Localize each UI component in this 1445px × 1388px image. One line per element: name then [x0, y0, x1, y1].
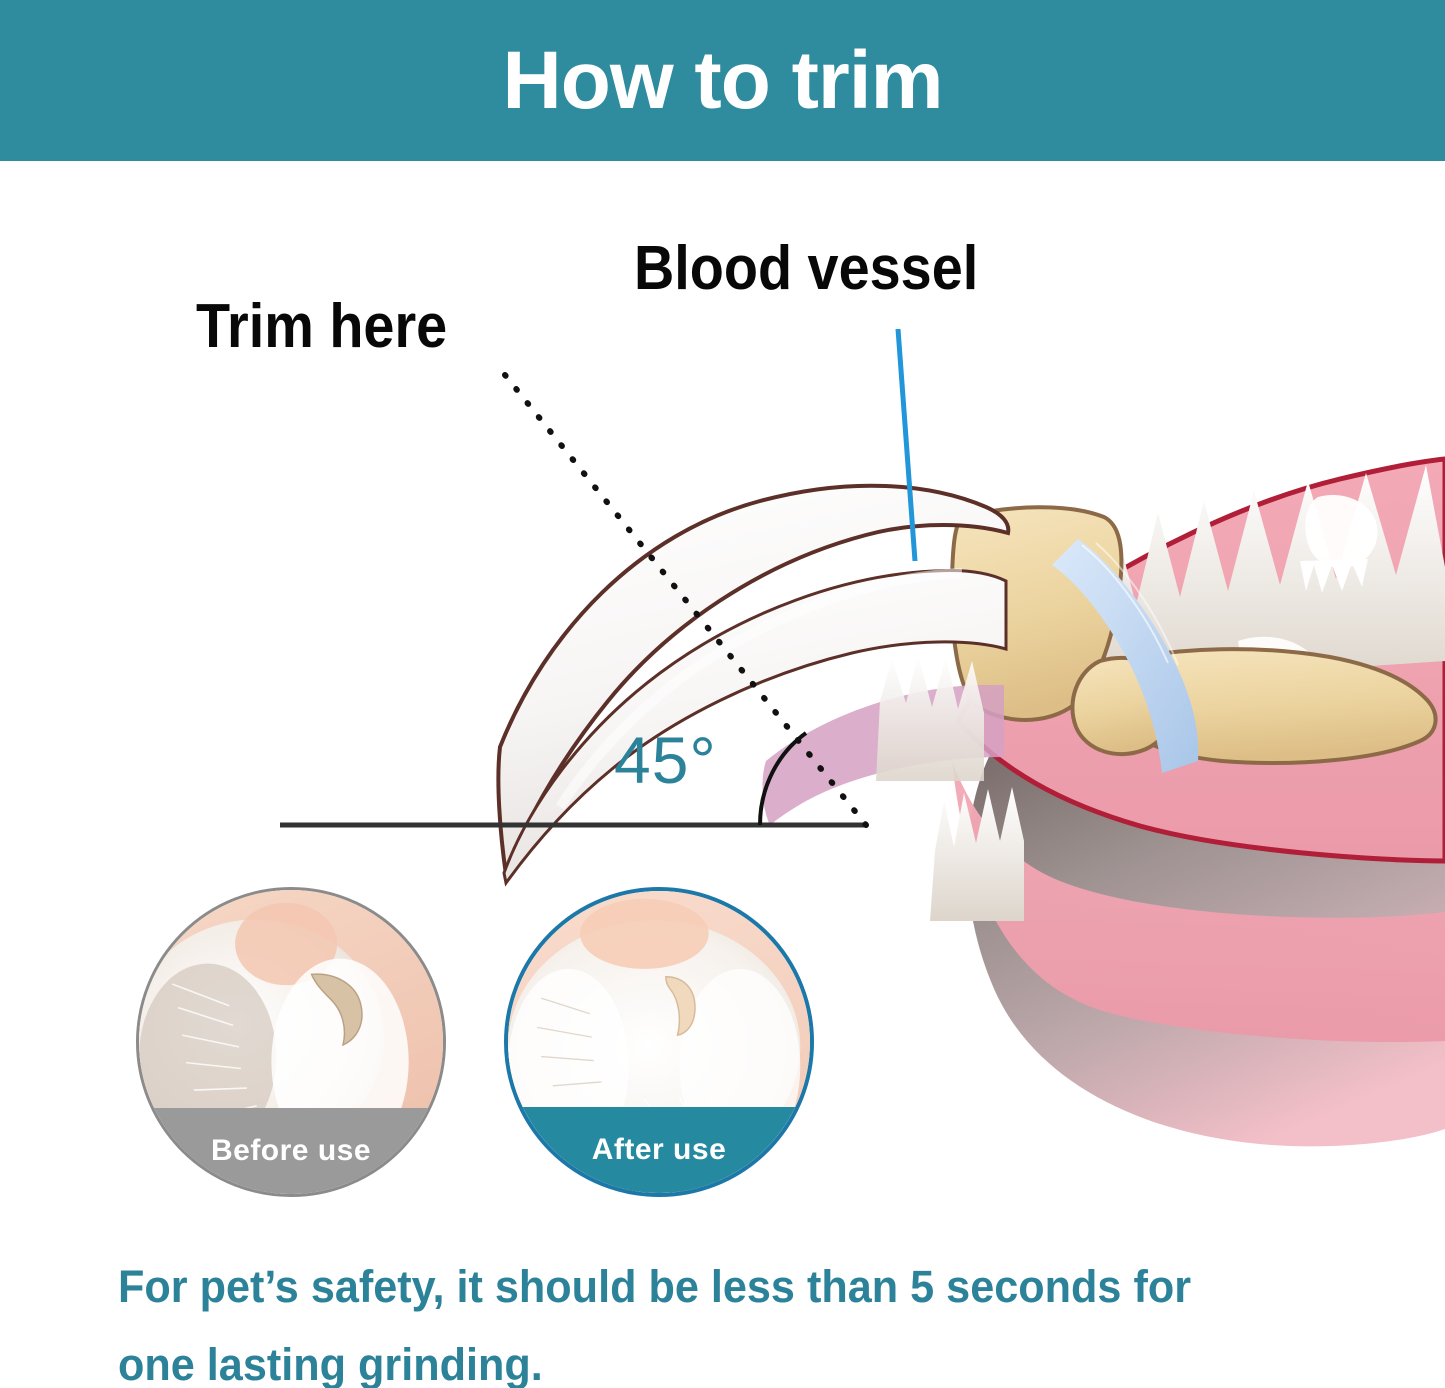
after-use-photo-circle: After use — [504, 887, 814, 1197]
before-use-photo-circle: Before use — [136, 887, 446, 1197]
before-use-caption: Before use — [139, 1108, 443, 1194]
header-banner: How to trim — [0, 0, 1445, 161]
bottom-note-line-2: one lasting grinding. — [118, 1326, 1328, 1388]
after-use-caption: After use — [508, 1107, 810, 1193]
bottom-note: For pet’s safety, it should be less than… — [118, 1248, 1328, 1388]
bottom-note-line-1: For pet’s safety, it should be less than… — [118, 1248, 1328, 1326]
angle-label: 45° — [614, 724, 717, 796]
page-title: How to trim — [0, 34, 1445, 128]
infographic-page: How to trim Trim here Blood vessel — [0, 0, 1445, 1388]
